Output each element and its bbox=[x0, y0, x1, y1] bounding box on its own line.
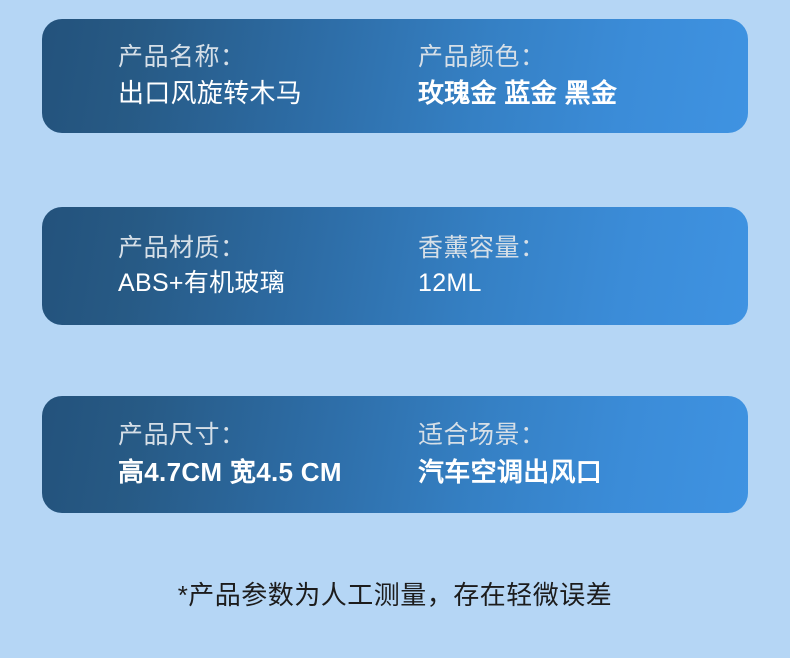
field-label: 产品颜色： bbox=[418, 40, 738, 76]
field-label: 产品尺寸： bbox=[118, 418, 418, 454]
field-label: 产品名称： bbox=[118, 40, 418, 76]
field-value: 玫瑰金 蓝金 黑金 bbox=[418, 75, 738, 112]
field-value: ABS+有机玻璃 bbox=[118, 266, 418, 302]
spec-field-fragrance-capacity: 香薰容量： 12ML bbox=[418, 207, 738, 325]
spec-card-product-name: 产品名称： 出口风旋转木马 产品颜色： 玫瑰金 蓝金 黑金 bbox=[42, 19, 748, 133]
field-label: 适合场景： bbox=[418, 418, 738, 454]
field-value: 高4.7CM 宽4.5 CM bbox=[118, 454, 418, 491]
field-value: 出口风旋转木马 bbox=[118, 75, 418, 112]
spec-field-product-material: 产品材质： ABS+有机玻璃 bbox=[118, 207, 418, 325]
field-value: 汽车空调出风口 bbox=[418, 454, 738, 491]
spec-field-product-color: 产品颜色： 玫瑰金 蓝金 黑金 bbox=[418, 19, 738, 133]
spec-card-columns: 产品材质： ABS+有机玻璃 香薰容量： 12ML bbox=[42, 207, 748, 325]
product-spec-sheet: 产品名称： 出口风旋转木马 产品颜色： 玫瑰金 蓝金 黑金 产品材质： ABS+… bbox=[0, 0, 790, 658]
spec-card-material: 产品材质： ABS+有机玻璃 香薰容量： 12ML bbox=[42, 207, 748, 325]
spec-card-columns: 产品名称： 出口风旋转木马 产品颜色： 玫瑰金 蓝金 黑金 bbox=[42, 19, 748, 133]
spec-field-product-name: 产品名称： 出口风旋转木马 bbox=[118, 19, 418, 133]
spec-card-columns: 产品尺寸： 高4.7CM 宽4.5 CM 适合场景： 汽车空调出风口 bbox=[42, 396, 748, 513]
measurement-disclaimer: *产品参数为人工测量，存在轻微误差 bbox=[0, 575, 790, 612]
field-label: 香薰容量： bbox=[418, 231, 738, 267]
spec-card-size: 产品尺寸： 高4.7CM 宽4.5 CM 适合场景： 汽车空调出风口 bbox=[42, 396, 748, 513]
spec-field-suitable-scene: 适合场景： 汽车空调出风口 bbox=[418, 396, 738, 513]
spec-field-product-size: 产品尺寸： 高4.7CM 宽4.5 CM bbox=[118, 396, 418, 513]
field-label: 产品材质： bbox=[118, 231, 418, 267]
field-value: 12ML bbox=[418, 266, 738, 302]
